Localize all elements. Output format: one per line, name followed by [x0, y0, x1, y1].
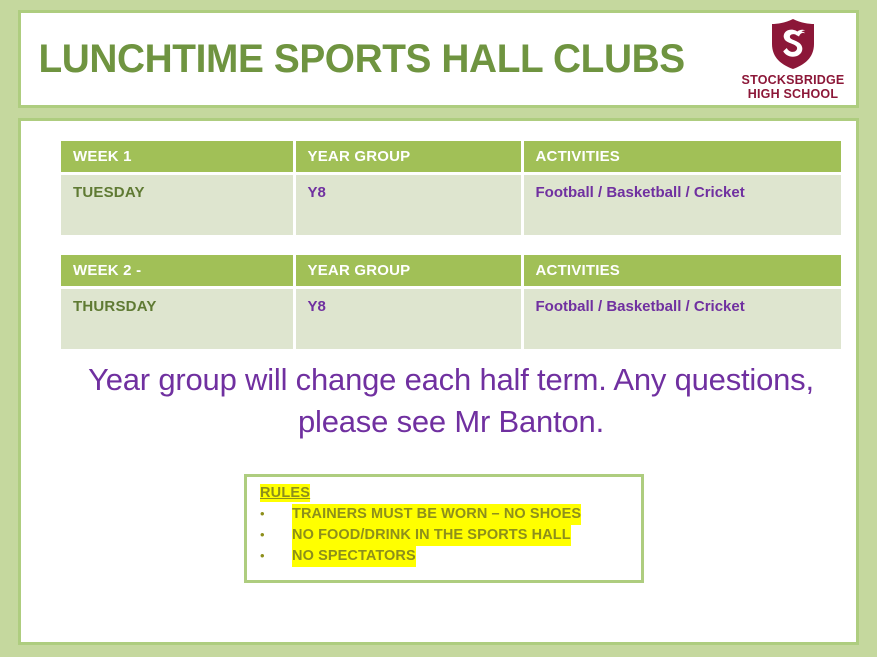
school-logo: STOCKSBRIDGE HIGH SCHOOL: [738, 18, 856, 101]
week-2-table: WEEK 2 - YEAR GROUP ACTIVITIES THURSDAY …: [61, 255, 841, 349]
bullet-icon: •: [260, 526, 292, 545]
cell-day: TUESDAY: [61, 174, 294, 236]
cell-day: THURSDAY: [61, 288, 294, 350]
bullet-icon: •: [260, 547, 292, 566]
rules-list: • TRAINERS MUST BE WORN – NO SHOES • NO …: [260, 504, 641, 567]
shield-s-icon: [770, 18, 816, 70]
school-name: STOCKSBRIDGE HIGH SCHOOL: [742, 73, 845, 101]
cell-activities: Football / Basketball / Cricket: [522, 174, 841, 236]
bullet-icon: •: [260, 505, 292, 524]
rule-text: TRAINERS MUST BE WORN – NO SHOES: [292, 504, 581, 525]
cell-activities: Football / Basketball / Cricket: [522, 288, 841, 350]
rule-text: NO SPECTATORS: [292, 546, 416, 567]
rule-text: NO FOOD/DRINK IN THE SPORTS HALL: [292, 525, 571, 546]
slide-canvas: LUNCHTIME SPORTS HALL CLUBS STOCKSBRIDGE…: [0, 0, 877, 657]
table-header-row: WEEK 1 YEAR GROUP ACTIVITIES: [61, 141, 841, 174]
week-1-table: WEEK 1 YEAR GROUP ACTIVITIES TUESDAY Y8 …: [61, 141, 841, 235]
note-text: Year group will change each half term. A…: [61, 359, 841, 443]
table-row: TUESDAY Y8 Football / Basketball / Crick…: [61, 174, 841, 236]
list-item: • NO FOOD/DRINK IN THE SPORTS HALL: [260, 525, 641, 546]
column-header-activities: ACTIVITIES: [522, 141, 841, 174]
cell-year-group: Y8: [294, 174, 522, 236]
list-item: • NO SPECTATORS: [260, 546, 641, 567]
list-item: • TRAINERS MUST BE WORN – NO SHOES: [260, 504, 641, 525]
page-title: LUNCHTIME SPORTS HALL CLUBS: [21, 39, 716, 79]
header-panel: LUNCHTIME SPORTS HALL CLUBS STOCKSBRIDGE…: [18, 10, 859, 108]
rules-title: RULES: [260, 484, 310, 502]
column-header-year-group: YEAR GROUP: [294, 141, 522, 174]
table-header-row: WEEK 2 - YEAR GROUP ACTIVITIES: [61, 255, 841, 288]
school-name-line1: STOCKSBRIDGE: [742, 73, 845, 87]
column-header-week: WEEK 1: [61, 141, 294, 174]
cell-year-group: Y8: [294, 288, 522, 350]
table-row: THURSDAY Y8 Football / Basketball / Cric…: [61, 288, 841, 350]
column-header-week: WEEK 2 -: [61, 255, 294, 288]
school-name-line2: HIGH SCHOOL: [742, 87, 845, 101]
main-panel: WEEK 1 YEAR GROUP ACTIVITIES TUESDAY Y8 …: [18, 118, 859, 645]
column-header-year-group: YEAR GROUP: [294, 255, 522, 288]
column-header-activities: ACTIVITIES: [522, 255, 841, 288]
rules-box: RULES • TRAINERS MUST BE WORN – NO SHOES…: [244, 474, 644, 583]
